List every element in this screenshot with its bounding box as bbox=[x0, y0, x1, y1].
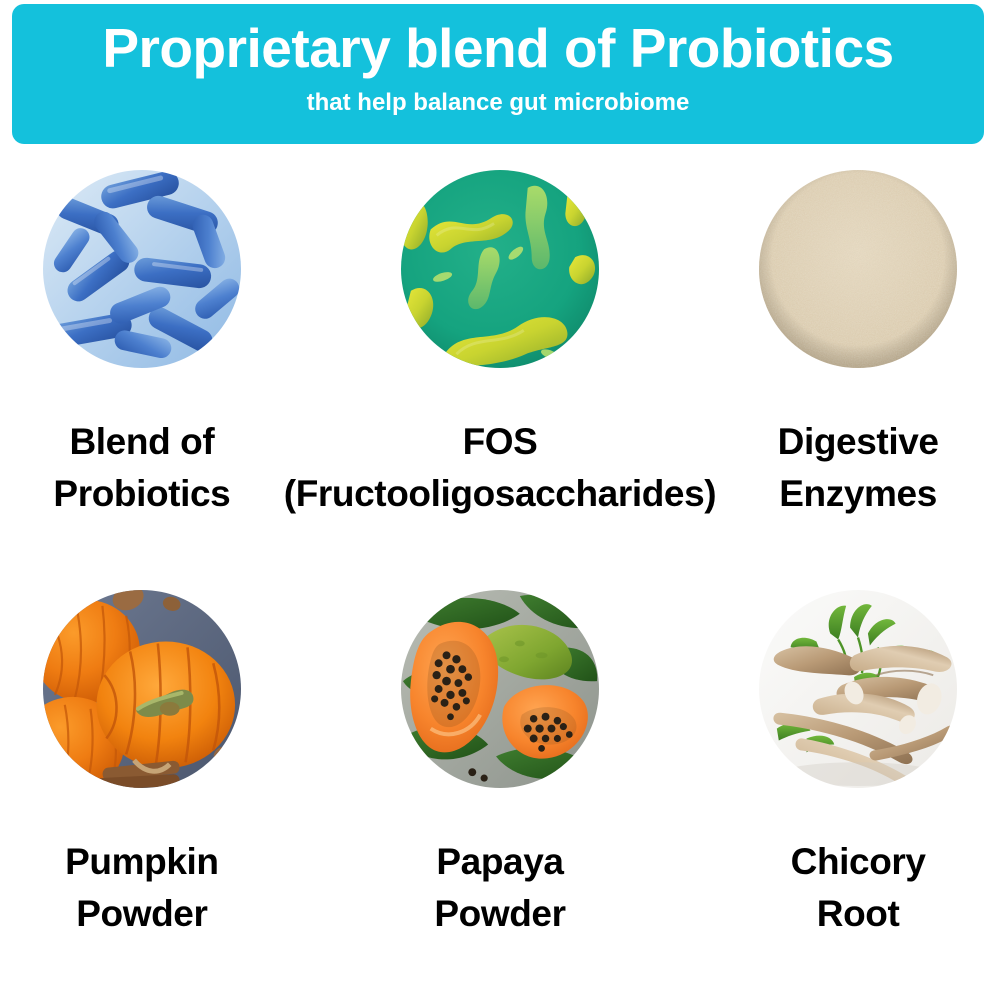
caption-line-1: Chicory bbox=[791, 841, 926, 882]
caption-line-2: Root bbox=[791, 888, 926, 940]
page-subtitle: that help balance gut microbiome bbox=[307, 88, 690, 118]
ingredient-caption: Papaya Powder bbox=[434, 836, 565, 940]
ingredient-card-probiotics: Blend of Probiotics bbox=[0, 150, 284, 575]
ingredient-caption: Blend of Probiotics bbox=[53, 416, 230, 520]
probiotic-bacteria-photo bbox=[43, 170, 241, 368]
fos-microscopy-photo bbox=[401, 170, 599, 368]
ingredient-card-papaya-powder: Papaya Powder bbox=[284, 575, 716, 1000]
ingredient-card-digestive-enzymes: Digestive Enzymes bbox=[716, 150, 1000, 575]
chicory-root-photo bbox=[759, 590, 957, 788]
enzyme-granules-photo bbox=[759, 170, 957, 368]
ingredient-caption: FOS (Fructooligosaccharides) bbox=[284, 416, 716, 520]
ingredients-infographic: Proprietary blend of Probiotics that hel… bbox=[0, 0, 1000, 1000]
caption-line-2: Probiotics bbox=[53, 468, 230, 520]
page-title: Proprietary blend of Probiotics bbox=[102, 16, 893, 80]
caption-line-1: Blend of bbox=[69, 421, 214, 462]
caption-line-1: Pumpkin bbox=[65, 841, 218, 882]
ingredient-grid: Blend of Probiotics bbox=[0, 150, 1000, 1000]
ingredient-caption: Chicory Root bbox=[791, 836, 926, 940]
caption-line-2: Powder bbox=[65, 888, 218, 940]
caption-line-2: Enzymes bbox=[778, 468, 939, 520]
ingredient-caption: Digestive Enzymes bbox=[778, 416, 939, 520]
caption-line-1: Digestive bbox=[778, 421, 939, 462]
header-banner: Proprietary blend of Probiotics that hel… bbox=[12, 4, 984, 144]
pumpkin-photo bbox=[43, 590, 241, 788]
caption-line-2: (Fructooligosaccharides) bbox=[284, 468, 716, 520]
caption-line-1: Papaya bbox=[436, 841, 563, 882]
ingredient-card-chicory-root: Chicory Root bbox=[716, 575, 1000, 1000]
caption-line-1: FOS bbox=[463, 421, 538, 462]
ingredient-caption: Pumpkin Powder bbox=[65, 836, 218, 940]
caption-line-2: Powder bbox=[434, 888, 565, 940]
ingredient-card-pumpkin-powder: Pumpkin Powder bbox=[0, 575, 284, 1000]
ingredient-card-fos: FOS (Fructooligosaccharides) bbox=[284, 150, 716, 575]
papaya-photo bbox=[401, 590, 599, 788]
